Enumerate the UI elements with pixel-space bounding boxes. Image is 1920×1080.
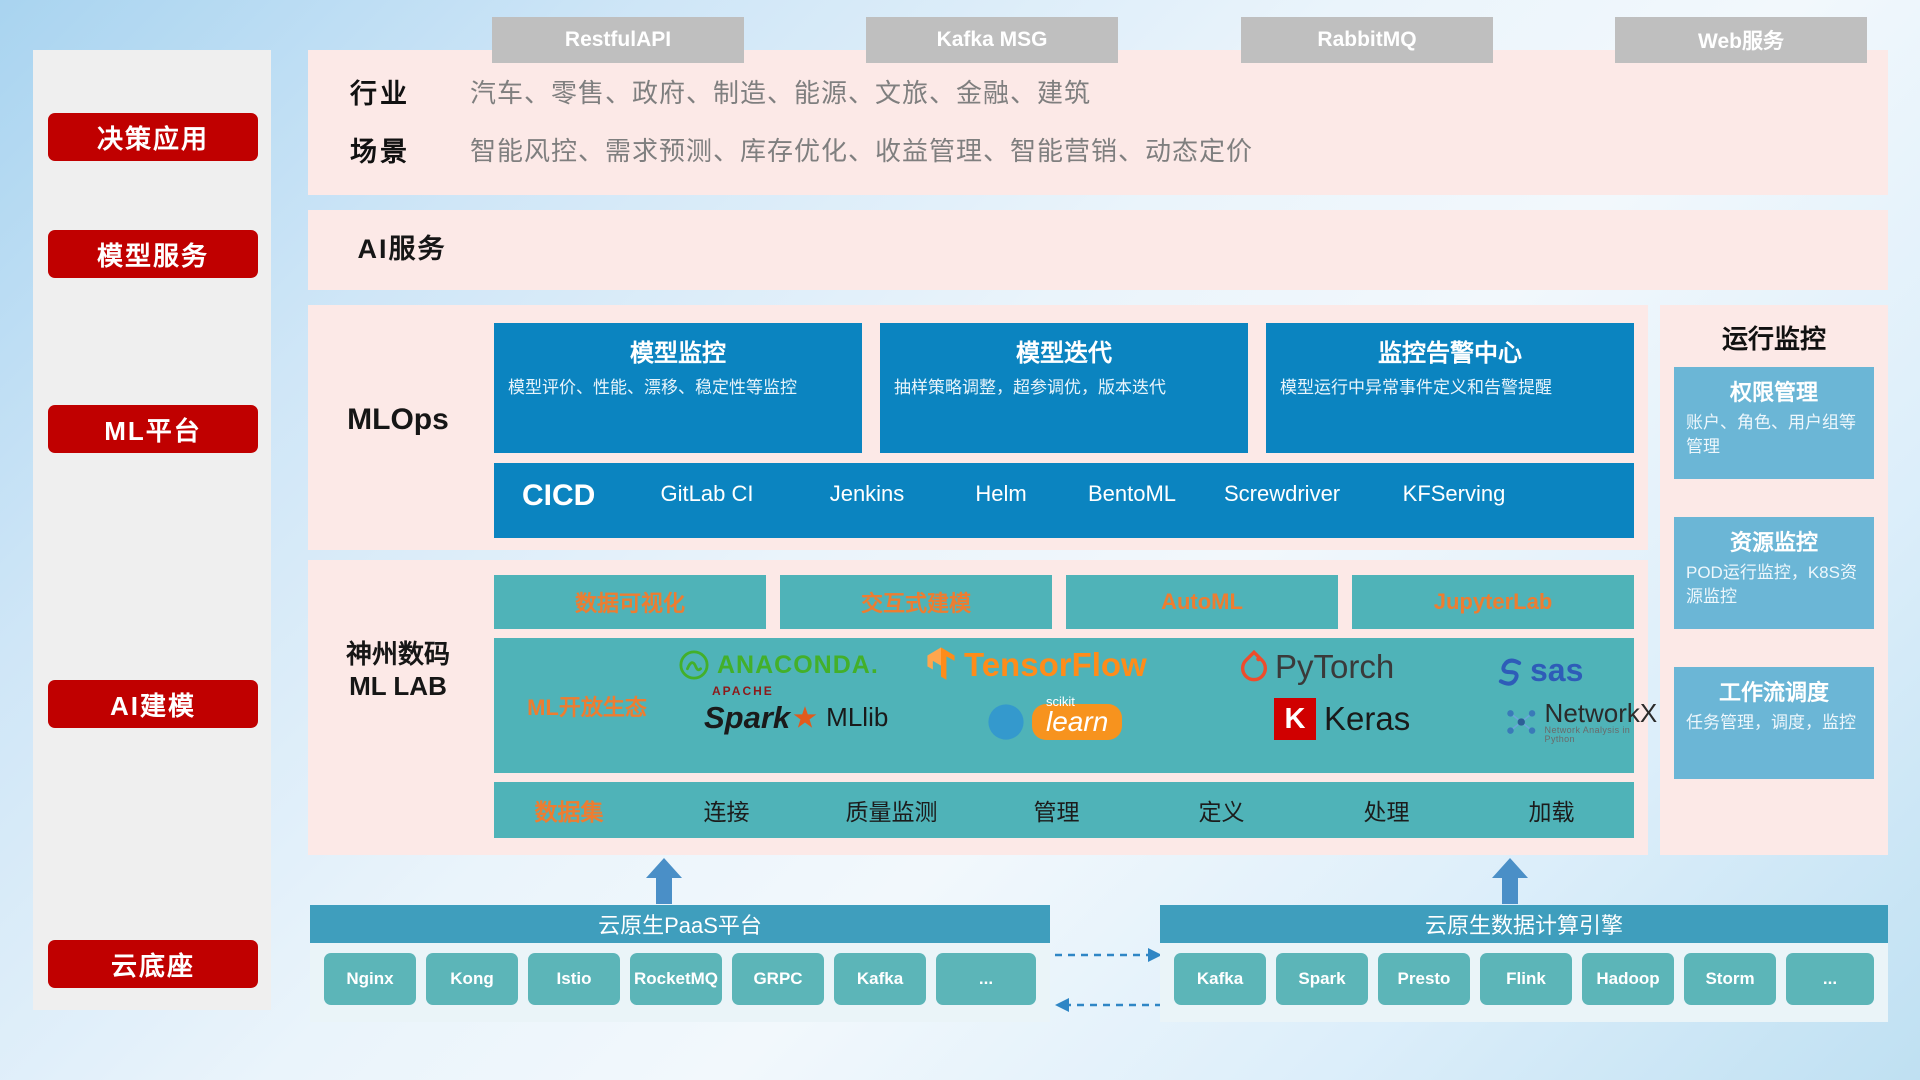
scenario-label: 场景 bbox=[350, 130, 470, 169]
card-title: 模型迭代 bbox=[894, 333, 1234, 368]
cloud-group-data-engine: 云原生数据计算引擎 Kafka Spark Presto Flink Hadoo… bbox=[1160, 905, 1888, 1022]
dataset-item-load[interactable]: 加载 bbox=[1469, 793, 1634, 827]
networkx-logo: NetworkX Network Analysis in Python bbox=[1504, 700, 1659, 744]
runtime-monitor-title: 运行监控 bbox=[1660, 319, 1888, 356]
mlops-card-alert-center[interactable]: 监控告警中心 模型运行中异常事件定义和告警提醒 bbox=[1266, 323, 1634, 453]
tensorflow-wordmark: TensorFlow bbox=[964, 646, 1147, 684]
card-desc: 抽样策略调整，超参调优，版本迭代 bbox=[894, 376, 1234, 401]
dataset-item-define[interactable]: 定义 bbox=[1139, 793, 1304, 827]
mllib-wordmark: MLlib bbox=[826, 702, 888, 736]
cloud-group-title: 云原生PaaS平台 bbox=[310, 905, 1050, 943]
sas-wordmark: sas bbox=[1530, 652, 1583, 689]
cicd-item-kfserving[interactable]: KFServing bbox=[1399, 481, 1509, 506]
scikit-wordmark: scikit bbox=[1046, 694, 1075, 709]
service-chip-label: Kafka MSG bbox=[937, 28, 1048, 52]
cicd-item-gitlab-ci[interactable]: GitLab CI bbox=[652, 481, 762, 506]
ml-lab-band: 数据可视化 交互式建模 AutoML JupyterLab ML开放生态 ANA… bbox=[308, 560, 1648, 855]
ml-lab-label: 神州数码 ML LAB bbox=[308, 630, 488, 710]
anaconda-wordmark: ANACONDA. bbox=[717, 651, 879, 680]
scikit-learn-icon bbox=[984, 700, 1028, 744]
stage-label: ML平台 bbox=[104, 411, 202, 448]
stage-label: 云底座 bbox=[111, 946, 195, 983]
cicd-title: CICD bbox=[522, 479, 595, 513]
monitor-card-permission[interactable]: 权限管理 账户、角色、用户组等管理 bbox=[1674, 367, 1874, 479]
ai-service-label: AI服务 bbox=[322, 224, 482, 276]
dataset-item-connect[interactable]: 连接 bbox=[644, 793, 809, 827]
mlops-card-model-iteration[interactable]: 模型迭代 抽样策略调整，超参调优，版本迭代 bbox=[880, 323, 1248, 453]
card-title: 模型监控 bbox=[508, 333, 848, 368]
card-desc: 模型评价、性能、漂移、稳定性等监控 bbox=[508, 376, 848, 401]
cloud-group-title: 云原生数据计算引擎 bbox=[1160, 905, 1888, 943]
service-chip-restfulapi[interactable]: RestfulAPI bbox=[492, 17, 744, 63]
ai-service-band bbox=[308, 210, 1888, 290]
cicd-item-helm[interactable]: Helm bbox=[946, 481, 1056, 506]
cloud-chip-presto[interactable]: Presto bbox=[1378, 953, 1470, 1005]
dataset-item-process[interactable]: 处理 bbox=[1304, 793, 1469, 827]
stage-chip-ml-platform[interactable]: ML平台 bbox=[48, 405, 258, 453]
service-chip-kafka-msg[interactable]: Kafka MSG bbox=[866, 17, 1118, 63]
ml-lab-label-line2: ML LAB bbox=[346, 670, 450, 703]
card-desc: POD运行监控，K8S资源监控 bbox=[1686, 561, 1862, 609]
scenario-value: 智能风控、需求预测、库存优化、收益管理、智能营销、动态定价 bbox=[470, 131, 1253, 168]
cloud-chip-nginx[interactable]: Nginx bbox=[324, 953, 416, 1005]
apache-wordmark: APACHE bbox=[712, 684, 774, 698]
lab-tab-label: AutoML bbox=[1161, 589, 1243, 615]
cloud-chip-hadoop[interactable]: Hadoop bbox=[1582, 953, 1674, 1005]
spark-wordmark: Spark bbox=[704, 700, 790, 736]
arrow-up-data-engine-icon bbox=[1490, 858, 1530, 904]
card-title: 权限管理 bbox=[1686, 375, 1862, 407]
service-chip-rabbitmq[interactable]: RabbitMQ bbox=[1241, 17, 1493, 63]
scenario-row: 场景 智能风控、需求预测、库存优化、收益管理、智能营销、动态定价 bbox=[350, 130, 1253, 169]
service-chip-label: Web服务 bbox=[1698, 25, 1784, 55]
lab-tab-label: 数据可视化 bbox=[575, 586, 685, 618]
lab-tab-interactive-modeling[interactable]: 交互式建模 bbox=[780, 575, 1052, 629]
tensorflow-icon bbox=[924, 646, 958, 684]
monitor-card-workflow[interactable]: 工作流调度 任务管理，调度，监控 bbox=[1674, 667, 1874, 779]
networkx-icon bbox=[1504, 704, 1539, 740]
sas-icon bbox=[1494, 655, 1526, 687]
keras-mark-letter: K bbox=[1285, 703, 1306, 736]
monitor-card-resource[interactable]: 资源监控 POD运行监控，K8S资源监控 bbox=[1674, 517, 1874, 629]
cloud-chip-spark[interactable]: Spark bbox=[1276, 953, 1368, 1005]
cloud-chip-kong[interactable]: Kong bbox=[426, 953, 518, 1005]
pytorch-logo: PyTorch bbox=[1239, 648, 1394, 686]
cloud-chip-kafka[interactable]: Kafka bbox=[1174, 953, 1266, 1005]
card-title: 工作流调度 bbox=[1686, 675, 1862, 707]
dataset-item-manage[interactable]: 管理 bbox=[974, 793, 1139, 827]
card-desc: 账户、角色、用户组等管理 bbox=[1686, 411, 1862, 459]
sas-logo: sas bbox=[1494, 652, 1583, 689]
dataset-item-quality[interactable]: 质量监测 bbox=[809, 793, 974, 827]
mlops-label: MLOps bbox=[308, 390, 488, 450]
bidirectional-connector-icon bbox=[1050, 945, 1170, 1025]
service-chip-label: RestfulAPI bbox=[565, 28, 671, 52]
cloud-chip-grpc[interactable]: GRPC bbox=[732, 953, 824, 1005]
cicd-item-screwdriver[interactable]: Screwdriver bbox=[1224, 481, 1334, 506]
card-desc: 模型运行中异常事件定义和告警提醒 bbox=[1280, 376, 1620, 401]
keras-logo: K Keras bbox=[1274, 698, 1410, 740]
lab-tab-label: 交互式建模 bbox=[861, 586, 971, 618]
dataset-label: 数据集 bbox=[494, 793, 644, 827]
ml-ecosystem-label: ML开放生态 bbox=[512, 690, 662, 722]
cicd-bar: CICD GitLab CI Jenkins Helm BentoML Scre… bbox=[494, 463, 1634, 538]
lab-tab-jupyterlab[interactable]: JupyterLab bbox=[1352, 575, 1634, 629]
application-band: 行业 汽车、零售、政府、制造、能源、文旅、金融、建筑 场景 智能风控、需求预测、… bbox=[308, 50, 1888, 195]
runtime-monitor-band: 运行监控 权限管理 账户、角色、用户组等管理 资源监控 POD运行监控，K8S资… bbox=[1660, 305, 1888, 855]
mlops-card-model-monitoring[interactable]: 模型监控 模型评价、性能、漂移、稳定性等监控 bbox=[494, 323, 862, 453]
pytorch-icon bbox=[1239, 650, 1269, 684]
card-title: 资源监控 bbox=[1686, 525, 1862, 557]
cicd-item-jenkins[interactable]: Jenkins bbox=[812, 481, 922, 506]
architecture-diagram: 决策应用 模型服务 ML平台 AI建模 云底座 行业 汽车、零售、政府、制造、能… bbox=[0, 0, 1920, 1080]
dataset-row: 数据集 连接 质量监测 管理 定义 处理 加载 bbox=[494, 782, 1634, 838]
cloud-chip-kafka[interactable]: Kafka bbox=[834, 953, 926, 1005]
cloud-chip-more[interactable]: ... bbox=[936, 953, 1036, 1005]
spark-star-icon bbox=[792, 705, 818, 731]
lab-tab-label: JupyterLab bbox=[1434, 589, 1553, 615]
lab-tab-data-visualization[interactable]: 数据可视化 bbox=[494, 575, 766, 629]
pytorch-wordmark: PyTorch bbox=[1275, 648, 1394, 686]
cloud-group-paas: 云原生PaaS平台 Nginx Kong Istio RocketMQ GRPC… bbox=[310, 905, 1050, 1022]
service-chip-label: RabbitMQ bbox=[1317, 28, 1416, 52]
cloud-chip-istio[interactable]: Istio bbox=[528, 953, 620, 1005]
stage-chip-ai-modeling[interactable]: AI建模 bbox=[48, 680, 258, 728]
networkx-wordmark: NetworkX bbox=[1545, 700, 1659, 726]
stage-rail bbox=[33, 50, 271, 1010]
industry-value: 汽车、零售、政府、制造、能源、文旅、金融、建筑 bbox=[470, 73, 1091, 110]
cicd-item-bentoml[interactable]: BentoML bbox=[1077, 481, 1187, 506]
stage-label: 模型服务 bbox=[97, 236, 209, 273]
cloud-chip-more[interactable]: ... bbox=[1786, 953, 1874, 1005]
ml-ecosystem-box: ML开放生态 ANACONDA. TensorFlow bbox=[494, 638, 1634, 773]
arrow-up-paas-icon bbox=[644, 858, 684, 904]
learn-wordmark: learn bbox=[1046, 706, 1108, 737]
card-desc: 任务管理，调度，监控 bbox=[1686, 711, 1862, 735]
ml-lab-label-line1: 神州数码 bbox=[346, 638, 450, 671]
card-title: 监控告警中心 bbox=[1280, 333, 1620, 368]
keras-wordmark: Keras bbox=[1324, 700, 1410, 738]
service-chip-web-service[interactable]: Web服务 bbox=[1615, 17, 1867, 63]
industry-row: 行业 汽车、零售、政府、制造、能源、文旅、金融、建筑 bbox=[350, 72, 1091, 111]
industry-label: 行业 bbox=[350, 72, 470, 111]
cloud-chip-flink[interactable]: Flink bbox=[1480, 953, 1572, 1005]
tensorflow-logo: TensorFlow bbox=[924, 646, 1147, 684]
keras-mark-icon: K bbox=[1274, 698, 1316, 740]
stage-label: 决策应用 bbox=[97, 119, 209, 156]
cloud-chip-storm[interactable]: Storm bbox=[1684, 953, 1776, 1005]
apache-spark-mllib-logo: APACHE Spark MLlib bbox=[704, 700, 888, 736]
stage-chip-model-service[interactable]: 模型服务 bbox=[48, 230, 258, 278]
stage-label: AI建模 bbox=[110, 686, 196, 723]
mlops-band: 模型监控 模型评价、性能、漂移、稳定性等监控 模型迭代 抽样策略调整，超参调优，… bbox=[308, 305, 1648, 550]
anaconda-logo: ANACONDA. bbox=[679, 650, 879, 680]
stage-chip-decision-application[interactable]: 决策应用 bbox=[48, 113, 258, 161]
stage-chip-cloud-base[interactable]: 云底座 bbox=[48, 940, 258, 988]
anaconda-icon bbox=[679, 650, 709, 680]
cloud-chip-rocketmq[interactable]: RocketMQ bbox=[630, 953, 722, 1005]
networkx-tagline: Network Analysis in Python bbox=[1545, 726, 1659, 744]
scikit-learn-logo: scikit learn bbox=[984, 700, 1122, 744]
lab-tab-automl[interactable]: AutoML bbox=[1066, 575, 1338, 629]
